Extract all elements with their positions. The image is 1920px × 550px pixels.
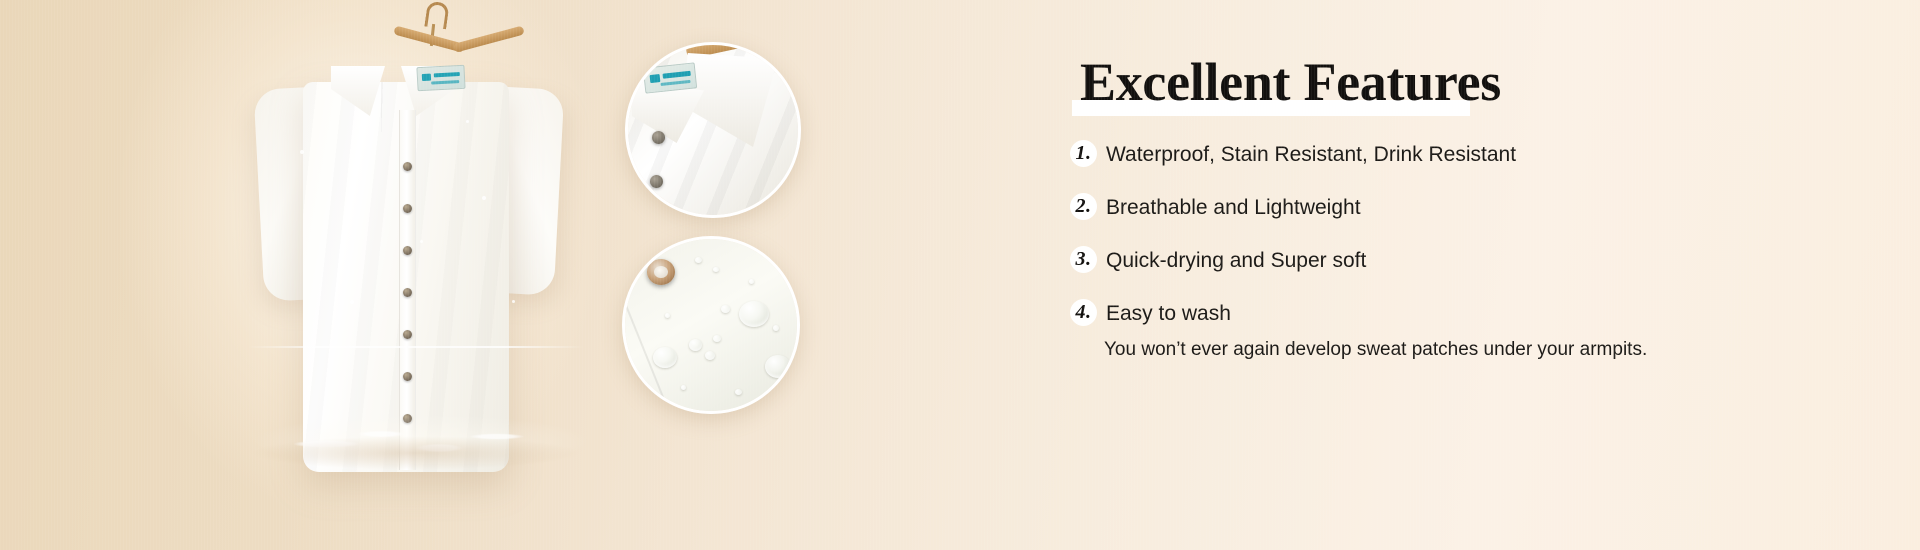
water-bead bbox=[705, 351, 715, 360]
list-item-label: Breathable and Lightweight bbox=[1106, 196, 1361, 219]
water-droplet bbox=[482, 196, 486, 200]
inset-wood-button bbox=[647, 259, 675, 285]
water-bead bbox=[653, 347, 677, 368]
list-item-number: 3. bbox=[1070, 246, 1097, 273]
list-item: 2. Breathable and Lightweight bbox=[1070, 195, 1920, 221]
shirt-button bbox=[403, 372, 412, 381]
inset-water-beading-closeup bbox=[622, 236, 800, 414]
water-bead bbox=[765, 355, 791, 378]
shirt-button bbox=[403, 288, 412, 297]
list-item-number: 2. bbox=[1070, 193, 1097, 220]
shirt-button bbox=[403, 204, 412, 213]
water-bead bbox=[739, 301, 769, 327]
water-bead bbox=[735, 389, 742, 395]
water-bead bbox=[721, 305, 730, 313]
water-bead bbox=[749, 279, 754, 284]
water-bead bbox=[665, 313, 670, 318]
water-bead bbox=[713, 267, 719, 272]
hero-product-image bbox=[0, 0, 620, 550]
water-bead bbox=[689, 339, 702, 351]
water-reflection-line bbox=[248, 346, 584, 348]
list-item-number: 4. bbox=[1070, 299, 1097, 326]
shirt-button bbox=[403, 330, 412, 339]
list-item: 3. Quick-drying and Super soft bbox=[1070, 248, 1920, 274]
page-title: Excellent Features bbox=[1080, 52, 1501, 112]
water-droplet bbox=[466, 120, 469, 123]
water-droplet bbox=[350, 300, 354, 304]
features-list: 1. Waterproof, Stain Resistant, Drink Re… bbox=[1070, 142, 1920, 362]
water-droplet bbox=[512, 300, 515, 303]
features-panel: Excellent Features 1. Waterproof, Stain … bbox=[1060, 0, 1920, 550]
list-item-label: Quick-drying and Super soft bbox=[1106, 249, 1366, 272]
product-feature-banner: Excellent Features 1. Waterproof, Stain … bbox=[0, 0, 1920, 550]
inset-shirt-button bbox=[652, 131, 665, 144]
list-item-label: Easy to wash bbox=[1106, 302, 1231, 325]
list-item-description: You won’t ever again develop sweat patch… bbox=[1104, 338, 1920, 362]
water-bead bbox=[681, 385, 686, 390]
inset-collar-closeup bbox=[625, 42, 801, 218]
title-text: Excellent Features bbox=[1080, 52, 1501, 112]
water-droplet bbox=[300, 150, 304, 154]
shirt-button bbox=[403, 162, 412, 171]
inset-shirt-button bbox=[650, 175, 663, 188]
water-bead bbox=[773, 325, 779, 331]
water-bead bbox=[695, 257, 702, 263]
list-item-label: Waterproof, Stain Resistant, Drink Resis… bbox=[1106, 143, 1516, 166]
inset-brand-label bbox=[643, 62, 697, 93]
shirt-button bbox=[403, 246, 412, 255]
list-item: 4. Easy to wash You won’t ever again dev… bbox=[1070, 301, 1920, 362]
water-bead bbox=[713, 335, 721, 342]
list-item: 1. Waterproof, Stain Resistant, Drink Re… bbox=[1070, 142, 1920, 168]
shirt-graphic bbox=[255, 52, 555, 472]
list-item-number: 1. bbox=[1070, 140, 1097, 167]
hem-shadow bbox=[250, 436, 580, 470]
brand-label bbox=[416, 65, 465, 91]
water-droplet bbox=[420, 240, 423, 243]
